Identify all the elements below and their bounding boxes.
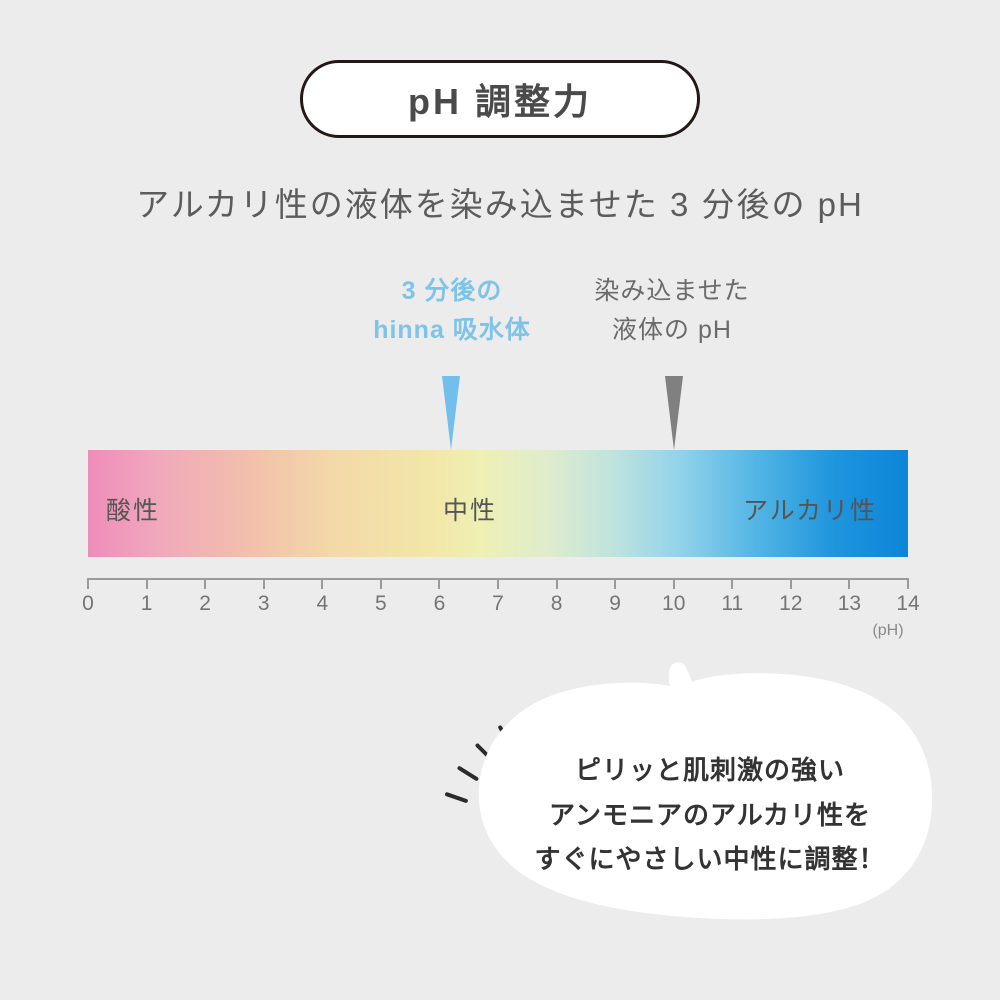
ph-axis: 01234567891011121314 (pH) <box>88 578 908 638</box>
axis-tick-label: 13 <box>827 592 871 616</box>
axis-tick <box>614 578 616 589</box>
axis-tick <box>380 578 382 589</box>
axis-tick <box>556 578 558 589</box>
axis-tick-label: 9 <box>593 592 637 616</box>
pointer-label-left-line1: 3 分後の <box>402 277 503 305</box>
axis-tick <box>146 578 148 589</box>
axis-tick-label: 6 <box>417 592 461 616</box>
emphasis-dash <box>447 794 466 801</box>
pointer-label-left-line2: hinna 吸水体 <box>332 311 572 350</box>
axis-unit-label: (pH) <box>858 622 918 640</box>
page-title: pH 調整力 <box>408 73 592 125</box>
axis-tick-label: 2 <box>183 592 227 616</box>
axis-tick <box>263 578 265 589</box>
axis-tick-label: 11 <box>710 592 754 616</box>
bubble-line-3: すぐにやさしい中性に調整！ <box>500 837 920 882</box>
speech-bubble: ピリッと肌刺激の強い アンモニアのアルカリ性を すぐにやさしい中性に調整！ <box>470 660 940 925</box>
pointer-label-right-line1: 染み込ませた <box>594 277 749 305</box>
axis-tick-label: 4 <box>300 592 344 616</box>
pointer-triangle-gray-icon <box>665 376 683 450</box>
axis-tick-label: 0 <box>66 592 110 616</box>
axis-tick <box>321 578 323 589</box>
ph-gradient-bar: 酸性 中性 アルカリ性 <box>88 450 908 557</box>
axis-tick-label: 5 <box>359 592 403 616</box>
zone-label-alkaline: アルカリ性 <box>743 491 877 527</box>
zone-label-acidic: 酸性 <box>106 491 160 527</box>
axis-tick-label: 10 <box>652 592 696 616</box>
pointer-triangle-blue-icon <box>442 376 460 450</box>
zone-label-neutral: 中性 <box>443 491 497 527</box>
infographic-page: pH 調整力 アルカリ性の液体を染み込ませた 3 分後の pH 3 分後の hi… <box>0 0 1000 1000</box>
pointer-label-right-line2: 液体の pH <box>552 311 792 350</box>
axis-tick-label: 14 <box>886 592 930 616</box>
axis-tick <box>848 578 850 589</box>
axis-tick-label: 12 <box>769 592 813 616</box>
subtitle: アルカリ性の液体を染み込ませた 3 分後の pH <box>0 178 1000 226</box>
pointer-label-right: 染み込ませた 液体の pH <box>552 272 792 350</box>
axis-tick-label: 7 <box>476 592 520 616</box>
title-pill: pH 調整力 <box>300 60 700 138</box>
axis-tick <box>497 578 499 589</box>
axis-tick <box>790 578 792 589</box>
pointer-label-left: 3 分後の hinna 吸水体 <box>332 272 572 350</box>
bubble-line-2: アンモニアのアルカリ性を <box>500 793 920 838</box>
axis-tick <box>673 578 675 589</box>
axis-tick <box>87 578 89 589</box>
axis-tick <box>907 578 909 589</box>
bubble-line-1: ピリッと肌刺激の強い <box>500 748 920 793</box>
axis-tick-label: 1 <box>125 592 169 616</box>
axis-tick <box>731 578 733 589</box>
axis-tick <box>438 578 440 589</box>
speech-bubble-text: ピリッと肌刺激の強い アンモニアのアルカリ性を すぐにやさしい中性に調整！ <box>500 748 920 882</box>
axis-tick-label: 8 <box>535 592 579 616</box>
axis-tick-label: 3 <box>242 592 286 616</box>
axis-tick <box>204 578 206 589</box>
